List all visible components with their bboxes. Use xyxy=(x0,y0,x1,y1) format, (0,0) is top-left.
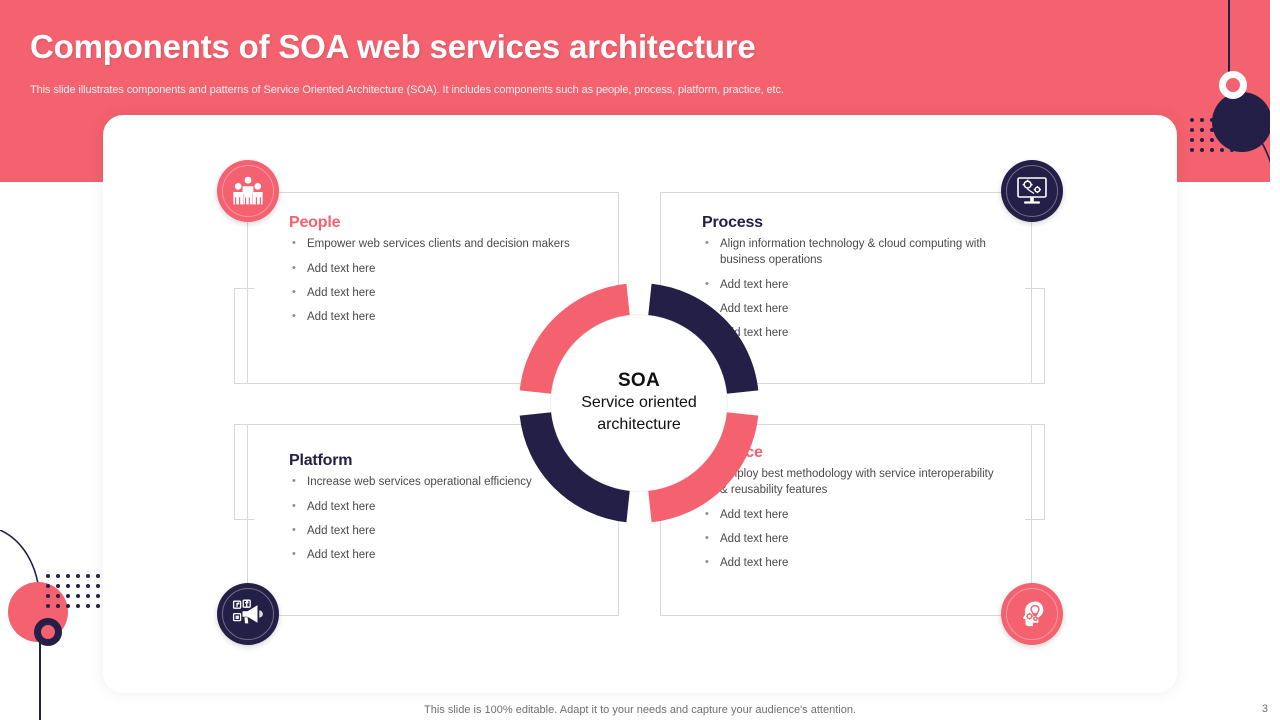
decor-dot xyxy=(1230,128,1234,132)
decor-dot xyxy=(66,604,70,608)
head-idea-gears-icon xyxy=(1016,598,1048,630)
decor-dot xyxy=(56,584,60,588)
decor-dot xyxy=(96,584,100,588)
decor-dot xyxy=(1210,138,1214,142)
decor-dot xyxy=(1200,128,1204,132)
decor-dot-grid-top-right xyxy=(1190,118,1242,152)
center-abbreviation: SOA xyxy=(618,370,660,392)
center-label-block: SOA Service oriented architecture xyxy=(551,315,727,491)
decor-dot xyxy=(1220,148,1224,152)
decor-dot xyxy=(1190,148,1194,152)
monitor-gears-icon xyxy=(1015,175,1049,207)
footer-note: This slide is 100% editable. Adapt it to… xyxy=(0,704,1280,716)
decor-dot xyxy=(66,594,70,598)
decor-dot xyxy=(86,574,90,578)
quadrant-connector-outline xyxy=(1025,424,1045,520)
badge-process[interactable] xyxy=(1001,160,1063,222)
decor-dot xyxy=(76,604,80,608)
center-label: Service oriented architecture xyxy=(579,392,699,436)
decor-dot xyxy=(86,584,90,588)
decor-dot xyxy=(1210,148,1214,152)
decor-dot xyxy=(1210,118,1214,122)
decor-dot xyxy=(1210,128,1214,132)
decor-dot xyxy=(46,594,50,598)
decor-dot xyxy=(56,604,60,608)
slide-canvas: Components of SOA web services architect… xyxy=(0,0,1280,720)
decor-dot-grid-bottom-left xyxy=(46,574,98,608)
decor-vertical-line-top xyxy=(1228,0,1230,78)
page-number: 3 xyxy=(1262,703,1268,715)
quadrant-connector-outline xyxy=(234,424,254,520)
quadrant-connector-outline xyxy=(234,288,254,384)
decor-dot xyxy=(1200,138,1204,142)
decor-dot xyxy=(66,584,70,588)
page-subtitle: This slide illustrates components and pa… xyxy=(30,84,784,96)
decor-dot xyxy=(1220,138,1224,142)
decor-dot xyxy=(96,604,100,608)
badge-practice[interactable] xyxy=(1001,583,1063,645)
decor-white-ring-top-right xyxy=(1219,71,1247,99)
decor-dot xyxy=(76,574,80,578)
decor-dot xyxy=(1220,128,1224,132)
decor-dot xyxy=(56,574,60,578)
megaphone-social-icon xyxy=(231,598,265,630)
quadrant-title-process: Process xyxy=(702,214,1002,232)
bullet-item: Add text here xyxy=(289,523,589,539)
quadrant-title-people: People xyxy=(289,214,589,232)
bullet-item: Add text here xyxy=(289,261,589,277)
decor-dot xyxy=(86,604,90,608)
decor-dot xyxy=(1200,118,1204,122)
badge-people[interactable] xyxy=(217,160,279,222)
decor-dot xyxy=(1190,138,1194,142)
page-title: Components of SOA web services architect… xyxy=(30,28,756,66)
decor-dot xyxy=(1230,118,1234,122)
decor-dot xyxy=(1230,148,1234,152)
bullet-item: Align information technology & cloud com… xyxy=(702,236,1002,268)
decor-dot xyxy=(1230,138,1234,142)
decor-dot xyxy=(66,574,70,578)
decor-dot xyxy=(96,574,100,578)
decor-dot xyxy=(1220,118,1224,122)
decor-dot xyxy=(1190,118,1194,122)
decor-dot xyxy=(46,574,50,578)
people-group-icon xyxy=(231,176,265,206)
decor-dot xyxy=(46,604,50,608)
quadrant-connector-outline xyxy=(1025,288,1045,384)
decor-dot xyxy=(1190,128,1194,132)
decor-dot xyxy=(1200,148,1204,152)
decor-dot xyxy=(76,594,80,598)
decor-right-white-edge xyxy=(1270,0,1280,720)
badge-platform[interactable] xyxy=(217,583,279,645)
decor-dot xyxy=(86,594,90,598)
bullet-item: Empower web services clients and decisio… xyxy=(289,236,589,252)
decor-dot xyxy=(76,584,80,588)
decor-dot xyxy=(96,594,100,598)
bullet-item: Add text here xyxy=(289,547,589,563)
bullet-item: Add text here xyxy=(702,531,1002,547)
bullet-item: Add text here xyxy=(702,555,1002,571)
decor-dot xyxy=(46,584,50,588)
decor-dot xyxy=(56,594,60,598)
